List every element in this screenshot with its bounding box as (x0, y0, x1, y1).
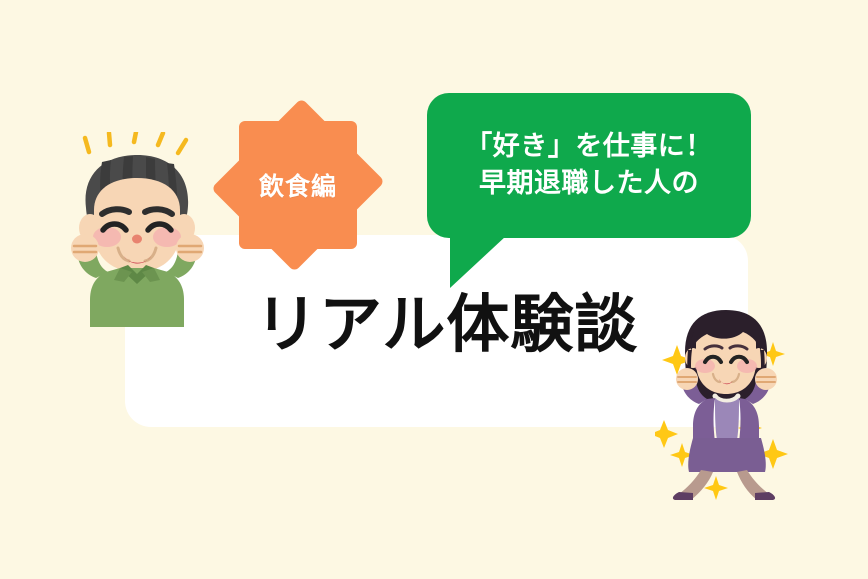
category-star-badge: 飲食編 (210, 100, 386, 270)
speech-bubble-text: 「好き」を仕事に！ 早期退職した人の (427, 93, 751, 238)
jumping-woman-illustration (655, 300, 800, 500)
speech-bubble-line-2: 早期退職した人の (479, 169, 699, 199)
raised-fist-right (755, 368, 777, 390)
cheering-older-man-illustration (66, 132, 216, 327)
raised-fist-right (176, 234, 204, 262)
page-title: リアル体験談 (255, 286, 655, 364)
raised-fist-left (71, 234, 99, 262)
raised-fist-left (676, 368, 698, 390)
poster-canvas: 飲食編 「好き」を仕事に！ 早期退職した人の リアル体験談 (0, 0, 868, 579)
speech-bubble: 「好き」を仕事に！ 早期退職した人の (427, 93, 751, 238)
category-badge-label: 飲食編 (210, 100, 386, 270)
speech-bubble-tail (450, 236, 506, 288)
speech-bubble-line-1: 「好き」を仕事に！ (465, 132, 713, 162)
excitement-lines-icon (85, 132, 186, 153)
